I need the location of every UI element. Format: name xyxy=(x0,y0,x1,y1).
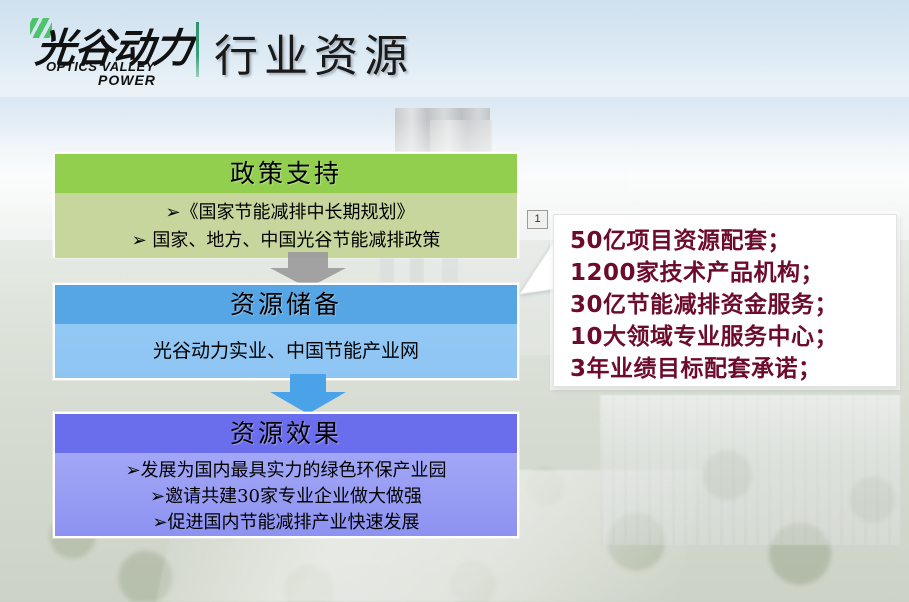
flow-box-resource-reserve[interactable]: 资源储备 光谷动力实业、中国节能产业网 xyxy=(53,283,519,380)
highlights-list: 50亿项目资源配套； 1200家技术产品机构； 30亿节能减排资金服务； 10大… xyxy=(570,225,888,385)
flow-box-body-policy: ➢《国家节能减排中长期规划》 ➢ 国家、地方、中国光谷节能减排政策 xyxy=(55,193,517,258)
bullet-icon: ➢ xyxy=(132,230,147,251)
highlight-number: 3 xyxy=(570,356,587,382)
list-item-label: 国家、地方、中国光谷节能减排政策 xyxy=(152,230,440,251)
list-item-label: 发展为国内最具实力的绿色环保产业园 xyxy=(141,460,447,481)
bullet-icon: ➢ xyxy=(152,512,167,533)
highlight-label: 家技术产品机构； xyxy=(636,259,824,286)
flow-box-body-reserve: 光谷动力实业、中国节能产业网 xyxy=(55,324,517,378)
flow-box-policy-support[interactable]: 政策支持 ➢《国家节能减排中长期规划》 ➢ 国家、地方、中国光谷节能减排政策 xyxy=(53,152,519,258)
highlight-number: 10 xyxy=(570,324,603,350)
list-item-label: 促进国内节能减排产业快速发展 xyxy=(168,512,420,533)
down-arrow-blue-icon xyxy=(266,374,350,414)
flow-box-title-reserve: 资源储备 xyxy=(55,285,517,324)
bullet-icon: ➢ xyxy=(150,486,165,507)
logo[interactable]: 光谷动力 OPTICS VALLEY POWER xyxy=(28,16,198,86)
list-item-label: 《国家节能减排中长期规划》 xyxy=(181,202,415,223)
list-item-label: 邀请共建30家专业企业做大做强 xyxy=(165,486,422,507)
header-band: 光谷动力 OPTICS VALLEY POWER 行业资源 xyxy=(0,0,909,97)
list-item: 3年业绩目标配套承诺； xyxy=(570,353,888,385)
list-item: ➢发展为国内最具实力的绿色环保产业园 xyxy=(55,458,517,484)
list-item: ➢ 国家、地方、中国光谷节能减排政策 xyxy=(55,227,517,255)
list-item: 30亿节能减排资金服务； xyxy=(570,289,888,321)
list-item: 10大领域专业服务中心； xyxy=(570,321,888,353)
highlight-number: 50 xyxy=(570,228,603,254)
flow-box-resource-effect[interactable]: 资源效果 ➢发展为国内最具实力的绿色环保产业园 ➢邀请共建30家专业企业做大做强… xyxy=(53,412,519,538)
note-marker[interactable]: 1 xyxy=(527,210,548,229)
logo-english-line2: POWER xyxy=(98,72,156,88)
highlights-callout[interactable]: 50亿项目资源配套； 1200家技术产品机构； 30亿节能减排资金服务； 10大… xyxy=(553,214,897,387)
highlight-label: 亿项目资源配套； xyxy=(603,227,791,254)
list-item: 1200家技术产品机构； xyxy=(570,257,888,289)
highlight-label: 年业绩目标配套承诺； xyxy=(587,355,822,382)
flow-box-body-effect: ➢发展为国内最具实力的绿色环保产业园 ➢邀请共建30家专业企业做大做强 ➢促进国… xyxy=(55,453,517,536)
list-item: ➢《国家节能减排中长期规划》 xyxy=(55,199,517,227)
flow-box-title-effect: 资源效果 xyxy=(55,414,517,453)
list-item: 50亿项目资源配套； xyxy=(570,225,888,257)
bullet-icon: ➢ xyxy=(125,460,140,481)
flow-box-title-policy: 政策支持 xyxy=(55,154,517,193)
slide-canvas: 光谷动力 OPTICS VALLEY POWER 行业资源 政策支持 ➢《国家节… xyxy=(0,0,909,602)
page-title: 行业资源 xyxy=(214,20,414,84)
highlight-number: 1200 xyxy=(570,260,636,286)
highlight-number: 30 xyxy=(570,292,603,318)
highlight-label: 亿节能减排资金服务； xyxy=(603,291,838,318)
header-divider xyxy=(196,22,199,77)
list-item: ➢邀请共建30家专业企业做大做强 xyxy=(55,484,517,510)
list-item: ➢促进国内节能减排产业快速发展 xyxy=(55,510,517,536)
bullet-icon: ➢ xyxy=(165,202,180,223)
highlight-label: 大领域专业服务中心； xyxy=(603,323,838,350)
